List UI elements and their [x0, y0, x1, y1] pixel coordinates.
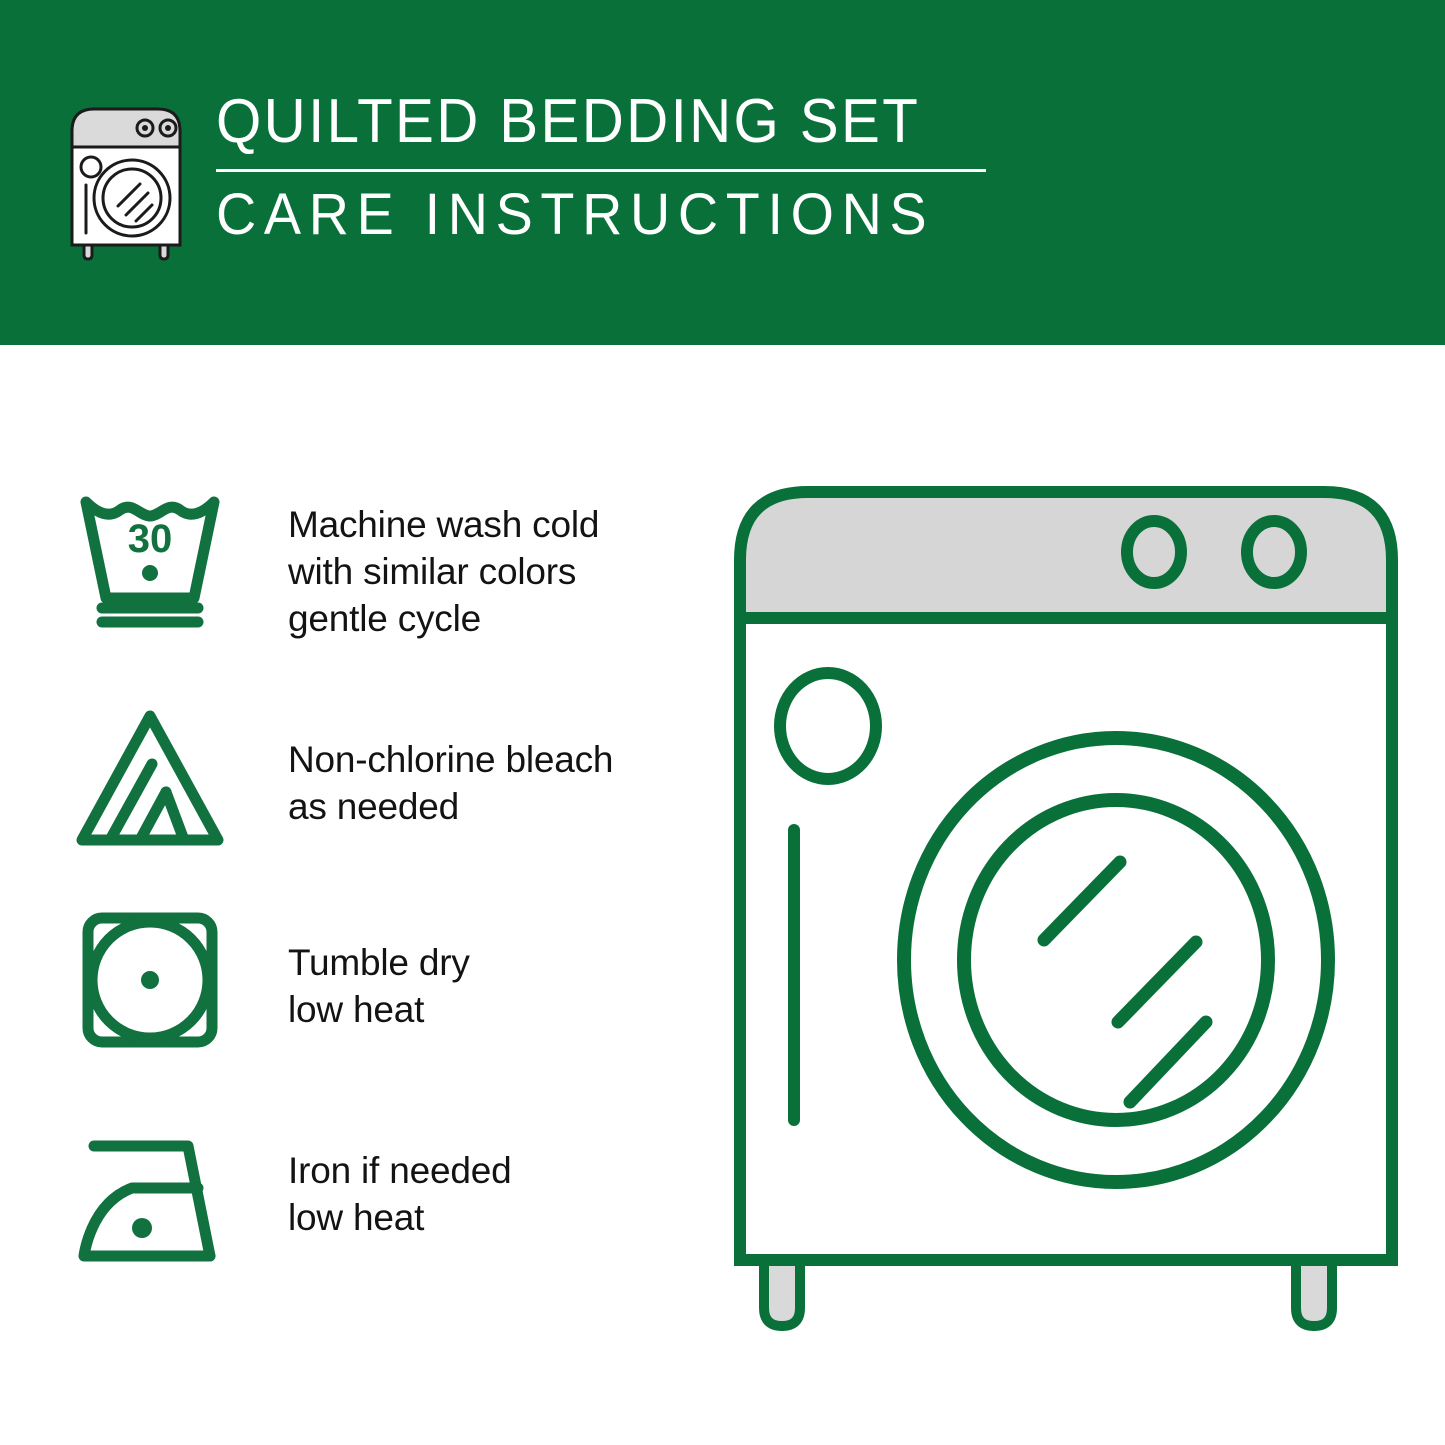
header-content: QUILTED BEDDING SET CARE INSTRUCTIONS [62, 95, 986, 261]
header-band: QUILTED BEDDING SET CARE INSTRUCTIONS [0, 0, 1445, 345]
page-subtitle: CARE INSTRUCTIONS [216, 186, 955, 244]
care-text-bleach: Non-chlorine bleach as needed [288, 737, 613, 831]
care-row-machine-wash: 30 Machine wash cold with similar colors… [70, 480, 690, 690]
control-panel [740, 492, 1392, 618]
care-text-machine-wash: Machine wash cold with similar colors ge… [288, 502, 599, 643]
header-title-group: QUILTED BEDDING SET CARE INSTRUCTIONS [216, 91, 986, 244]
care-instruction-list: 30 Machine wash cold with similar colors… [70, 480, 690, 1320]
title-divider [216, 169, 986, 172]
machine-wash-tub-icon: 30 [70, 480, 230, 630]
care-row-iron: Iron if needed low heat [70, 1110, 690, 1320]
care-instructions-infographic: QUILTED BEDDING SET CARE INSTRUCTIONS 30 [0, 0, 1445, 1445]
care-text-tumble-dry: Tumble dry low heat [288, 940, 470, 1034]
care-row-tumble-dry: Tumble dry low heat [70, 900, 690, 1110]
care-text-iron: Iron if needed low heat [288, 1148, 511, 1242]
leg-left [764, 1260, 800, 1326]
tumble-dry-low-icon [70, 905, 230, 1055]
care-row-bleach: Non-chlorine bleach as needed [70, 690, 690, 900]
non-chlorine-bleach-triangle-icon [70, 704, 230, 854]
leg-right [1296, 1260, 1332, 1326]
iron-low-heat-icon [70, 1128, 230, 1278]
front-load-washing-machine-illustration [726, 470, 1406, 1360]
wash-temperature-label: 30 [128, 517, 173, 561]
washing-machine-logo-icon [62, 101, 190, 261]
page-title: QUILTED BEDDING SET [216, 91, 940, 153]
